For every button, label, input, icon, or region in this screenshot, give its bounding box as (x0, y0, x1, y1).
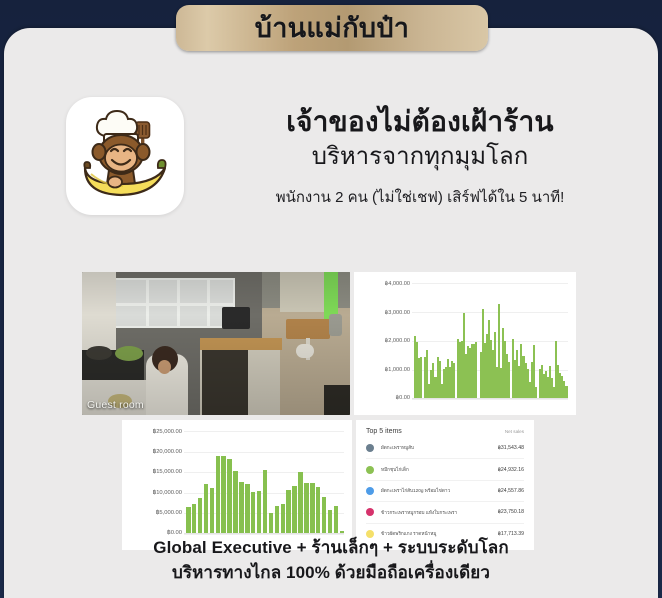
chart-bar (192, 504, 197, 534)
chart-bar (292, 486, 297, 534)
footer-line-1: Global Executive + ร้านเล็กๆ + ระบบระดับ… (4, 536, 658, 561)
item-color-dot-icon (366, 444, 374, 452)
cctv-camera-label: Guest room (87, 399, 144, 411)
chart-bar (286, 490, 291, 534)
chart-bar (245, 484, 250, 534)
chart-bar (216, 456, 221, 534)
poster-root: เจ้าของไม่ต้องเฝ้าร้าน บริหารจากทุกมุมโล… (0, 0, 662, 598)
chart-bar (316, 487, 321, 534)
top-items-panel[interactable]: Top 5 items Net sales ผัดกะเพราหมูสับ฿31… (356, 420, 534, 550)
chart-bar (221, 456, 226, 534)
top-items-metric-label: Net sales (505, 429, 524, 434)
chart-bar (453, 363, 455, 399)
axis-tick-label: ฿1,000.00 (360, 367, 410, 373)
top-item-value: ฿31,543.48 (498, 445, 524, 451)
chart-bar (263, 470, 268, 534)
chart-bar (281, 504, 286, 534)
chart-bar (251, 492, 256, 534)
chart-bar (257, 491, 262, 534)
chart-bar (198, 498, 203, 534)
title-banner-text: บ้านแม่กับป๋า (255, 15, 409, 42)
axis-tick-label: ฿5,000.00 (128, 510, 182, 516)
top-item-row[interactable]: หมึกชุบไก่เด็ก฿24,932.16 (366, 458, 524, 479)
chart-bar (239, 482, 244, 534)
chart-bar (508, 362, 510, 399)
chart-bar (304, 483, 309, 534)
hero-section: เจ้าของไม่ต้องเฝ้าร้าน บริหารจากทุกมุมโล… (4, 76, 658, 236)
axis-tick-label: ฿15,000.00 (128, 469, 182, 475)
cctv-video-panel[interactable]: Guest room (82, 272, 350, 415)
chart-bar (233, 471, 238, 534)
weekly-chart-baseline (184, 533, 344, 534)
top-item-name: ผัดกะเพราหมูสับ (381, 444, 498, 451)
weekly-sales-chart[interactable]: ฿25,000.00฿20,000.00฿15,000.00฿10,000.00… (122, 420, 352, 550)
hero-copy: เจ้าของไม่ต้องเฝ้าร้าน บริหารจากทุกมุมโล… (184, 104, 658, 207)
axis-tick-label: ฿10,000.00 (128, 490, 182, 496)
top-item-value: ฿23,750.18 (498, 509, 524, 515)
chart-bar (227, 459, 232, 534)
top-item-row[interactable]: ผัดกะเพราไก่สับ120g พร้อมไข่ดาว฿24,557.8… (366, 480, 524, 501)
item-color-dot-icon (366, 466, 374, 474)
title-banner: บ้านแม่กับป๋า (176, 5, 488, 51)
brand-logo (66, 97, 184, 215)
item-color-dot-icon (366, 508, 374, 516)
top-item-value: ฿24,932.16 (498, 467, 524, 473)
chart-bar (475, 342, 477, 399)
chart-bar (328, 510, 333, 534)
chart-bar (204, 484, 209, 534)
chart-bar (186, 507, 191, 534)
chart-bar (310, 483, 315, 534)
top-item-row[interactable]: ข้าวกระเพราหมูกรอบ แห้งใบกระเพรา฿23,750.… (366, 501, 524, 522)
top-item-name: หมึกชุบไก่เด็ก (381, 466, 498, 473)
daily-sales-chart[interactable]: ฿4,000.00฿3,000.00฿2,000.00฿1,000.00฿0.0… (354, 272, 576, 415)
weekly-chart-bars (186, 431, 344, 534)
axis-tick-label: ฿3,000.00 (360, 310, 410, 316)
axis-tick-label: ฿0.00 (360, 395, 410, 401)
footer-section: Global Executive + ร้านเล็กๆ + ระบบระดับ… (4, 536, 658, 585)
top-items-rows: ผัดกะเพราหมูสับ฿31,543.48หมึกชุบไก่เด็ก฿… (356, 437, 534, 544)
hero-headline: เจ้าของไม่ต้องเฝ้าร้าน (190, 104, 650, 140)
chart-bar (275, 506, 280, 534)
chart-bar (210, 488, 215, 534)
chart-bar (322, 497, 327, 534)
daily-chart-y-axis: ฿4,000.00฿3,000.00฿2,000.00฿1,000.00฿0.0… (360, 281, 410, 401)
axis-tick-label: ฿4,000.00 (360, 281, 410, 287)
weekly-chart-y-axis: ฿25,000.00฿20,000.00฿15,000.00฿10,000.00… (128, 429, 182, 536)
top-item-name: ผัดกะเพราไก่สับ120g พร้อมไข่ดาว (381, 487, 498, 494)
item-color-dot-icon (366, 487, 374, 495)
daily-chart-bars (414, 283, 568, 399)
chart-bar (298, 472, 303, 534)
axis-tick-label: ฿20,000.00 (128, 449, 182, 455)
top-item-name: ข้าวกระเพราหมูกรอบ แห้งใบกระเพรา (381, 509, 498, 516)
top-items-title: Top 5 items (366, 428, 402, 435)
footer-line-2: บริหารทางไกล 100% ด้วยมือถือเครื่องเดียว (4, 561, 658, 586)
hero-subline: บริหารจากทุกมุมโลก (190, 141, 650, 173)
hero-tagline: พนักงาน 2 คน (ไม่ใช่เชฟ) เสิร์ฟได้ใน 5 น… (190, 187, 650, 208)
top-items-header: Top 5 items Net sales (356, 420, 534, 437)
axis-tick-label: ฿25,000.00 (128, 429, 182, 435)
chart-bar (420, 357, 422, 399)
content-card: เจ้าของไม่ต้องเฝ้าร้าน บริหารจากทุกมุมโล… (4, 28, 658, 598)
top-item-row[interactable]: ผัดกะเพราหมูสับ฿31,543.48 (366, 437, 524, 458)
daily-chart-baseline (412, 398, 568, 399)
cctv-scene (82, 272, 350, 415)
dashboard-grid: Guest room ฿4,000.00฿3,000.00฿2,000.00฿1… (4, 240, 658, 532)
axis-tick-label: ฿2,000.00 (360, 338, 410, 344)
monkey-chef-banana-logo (75, 106, 175, 206)
chart-bar (334, 506, 339, 534)
chart-bar (269, 513, 274, 534)
top-item-value: ฿24,557.86 (498, 488, 524, 494)
